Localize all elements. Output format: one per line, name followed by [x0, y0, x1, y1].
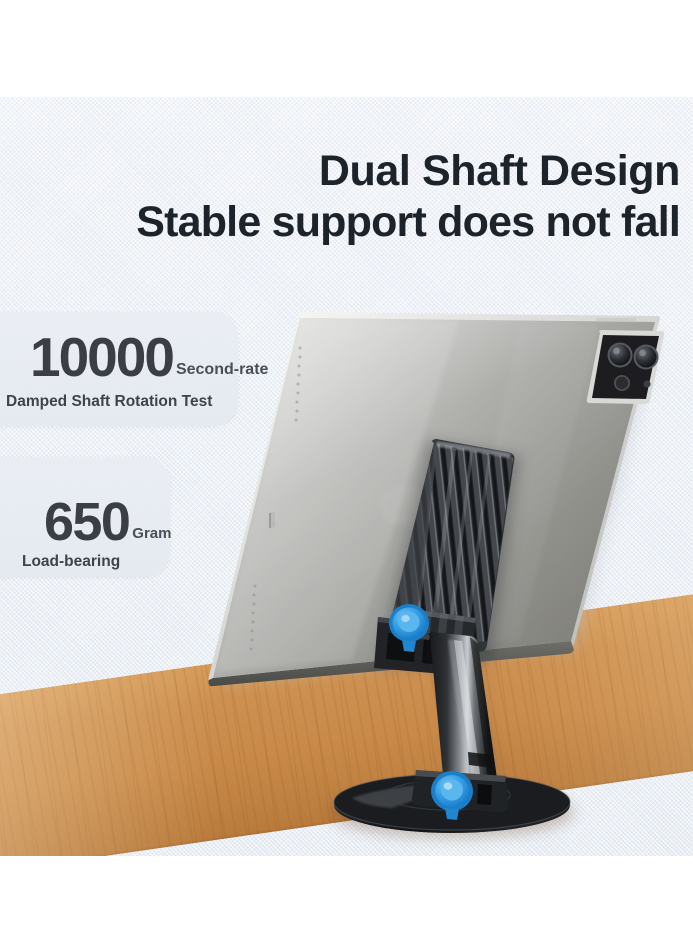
- stat-caption: Damped Shaft Rotation Test: [6, 393, 212, 411]
- stat-badge-value-row: 650 Gram: [44, 495, 171, 550]
- stat-unit: Second-rate: [176, 361, 268, 379]
- headline-line-2: Stable support does not fall: [20, 197, 680, 248]
- stat-value: 10000: [30, 330, 173, 385]
- stat-unit: Gram: [132, 525, 171, 542]
- product-banner: Dual Shaft Design Stable support does no…: [0, 0, 693, 945]
- background-top-white: [0, 0, 693, 98]
- background-bottom-white: [0, 856, 693, 945]
- stat-badge-value-row: 10000 Second-rate: [30, 330, 268, 385]
- stat-value: 650: [44, 495, 129, 550]
- page-title: Dual Shaft Design Stable support does no…: [20, 146, 680, 248]
- headline-line-1: Dual Shaft Design: [20, 146, 680, 197]
- stat-caption: Load-bearing: [22, 553, 120, 571]
- stat-badge-rotation-test: 10000 Second-rate Damped Shaft Rotation …: [0, 312, 238, 426]
- stat-badge-load-bearing: 650 Gram Load-bearing: [0, 457, 170, 577]
